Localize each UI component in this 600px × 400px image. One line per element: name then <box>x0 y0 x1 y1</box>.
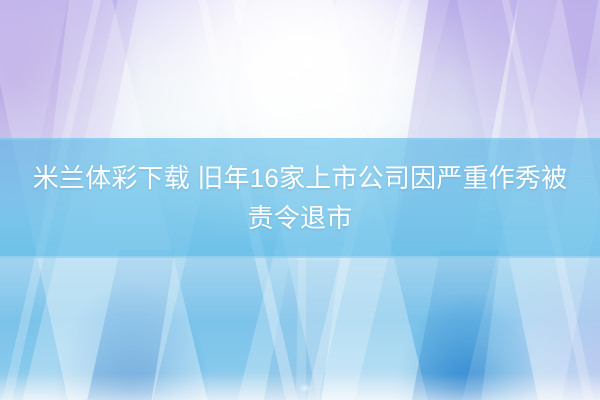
headline-band: 米兰体彩下载 旧年16家上市公司因严重作秀被 责令退市 <box>0 138 600 258</box>
band-bottom-edge <box>0 256 600 258</box>
headline-line-2: 责令退市 <box>10 198 590 238</box>
headline-line-1: 米兰体彩下载 旧年16家上市公司因严重作秀被 <box>10 158 590 198</box>
article-banner: 米兰体彩下载 旧年16家上市公司因严重作秀被 责令退市 <box>0 0 600 400</box>
bottom-speck-artifact <box>296 382 314 394</box>
